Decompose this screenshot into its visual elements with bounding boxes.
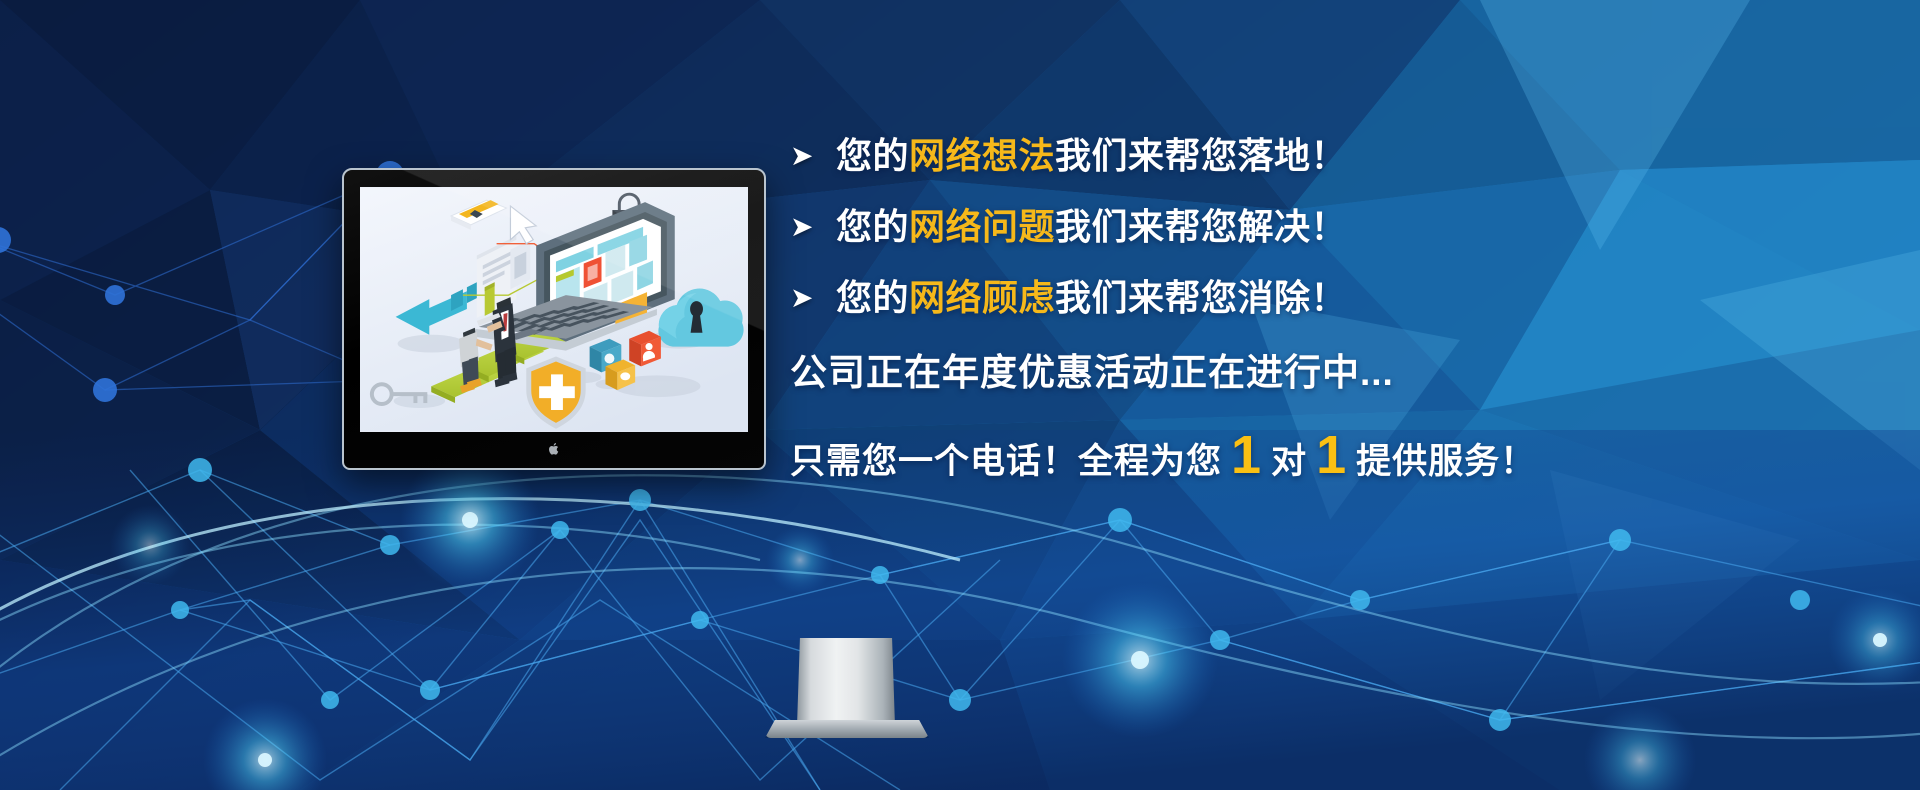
bullet-text-3: 您的网络顾虑我们来帮您消除！ — [836, 280, 1347, 316]
desktop-monitor-illustration — [342, 168, 766, 470]
monitor-base — [765, 720, 929, 738]
bullet-line-3: ➤ 您的网络顾虑我们来帮您消除！ — [790, 268, 1720, 328]
monitor-stand — [797, 638, 895, 726]
banner-copy: ➤ 您的网络想法我们来帮您落地！ ➤ 您的网络问题我们来帮您解决！ ➤ 您的网络… — [790, 126, 1720, 482]
cta-tail: 提供服务！ — [1356, 444, 1536, 479]
bullet-line-2: ➤ 您的网络问题我们来帮您解决！ — [790, 197, 1720, 257]
bullet-text-1: 您的网络想法我们来帮您落地！ — [836, 138, 1347, 174]
promo-banner: ➤ 您的网络想法我们来帮您落地！ ➤ 您的网络问题我们来帮您解决！ ➤ 您的网络… — [0, 0, 1920, 790]
bullet-2-suffix: 我们来帮您解决！ — [1055, 206, 1347, 247]
cta-number-first: 1 — [1222, 428, 1271, 482]
bullet-2-prefix: 您的 — [836, 206, 909, 247]
cta-mid: 对 — [1271, 444, 1307, 479]
cta-number-second: 1 — [1307, 428, 1356, 482]
apple-logo — [548, 442, 560, 456]
monitor-bezel — [342, 168, 766, 470]
arrow-bullet-icon: ➤ — [790, 213, 836, 241]
bullet-text-2: 您的网络问题我们来帮您解决！ — [836, 209, 1347, 245]
promo-line: 公司正在年度优惠活动正在进行中... — [790, 354, 1720, 391]
bullet-1-prefix: 您的 — [836, 135, 909, 176]
cta-lead: 只需您一个电话！全程为您 — [790, 444, 1222, 479]
bullet-2-highlight: 网络问题 — [909, 206, 1055, 247]
bullet-1-suffix: 我们来帮您落地！ — [1055, 135, 1347, 176]
arrow-bullet-icon: ➤ — [790, 284, 836, 312]
cta-line: 只需您一个电话！全程为您 1 对 1 提供服务！ — [790, 428, 1720, 482]
bullet-3-highlight: 网络顾虑 — [909, 277, 1055, 318]
arrow-bullet-icon: ➤ — [790, 142, 836, 170]
bullet-line-1: ➤ 您的网络想法我们来帮您落地！ — [790, 126, 1720, 186]
bullet-1-highlight: 网络想法 — [909, 135, 1055, 176]
bullet-3-prefix: 您的 — [836, 277, 909, 318]
monitor-screen — [360, 187, 748, 432]
bullet-3-suffix: 我们来帮您消除！ — [1055, 277, 1347, 318]
monitor-chin — [344, 430, 764, 468]
